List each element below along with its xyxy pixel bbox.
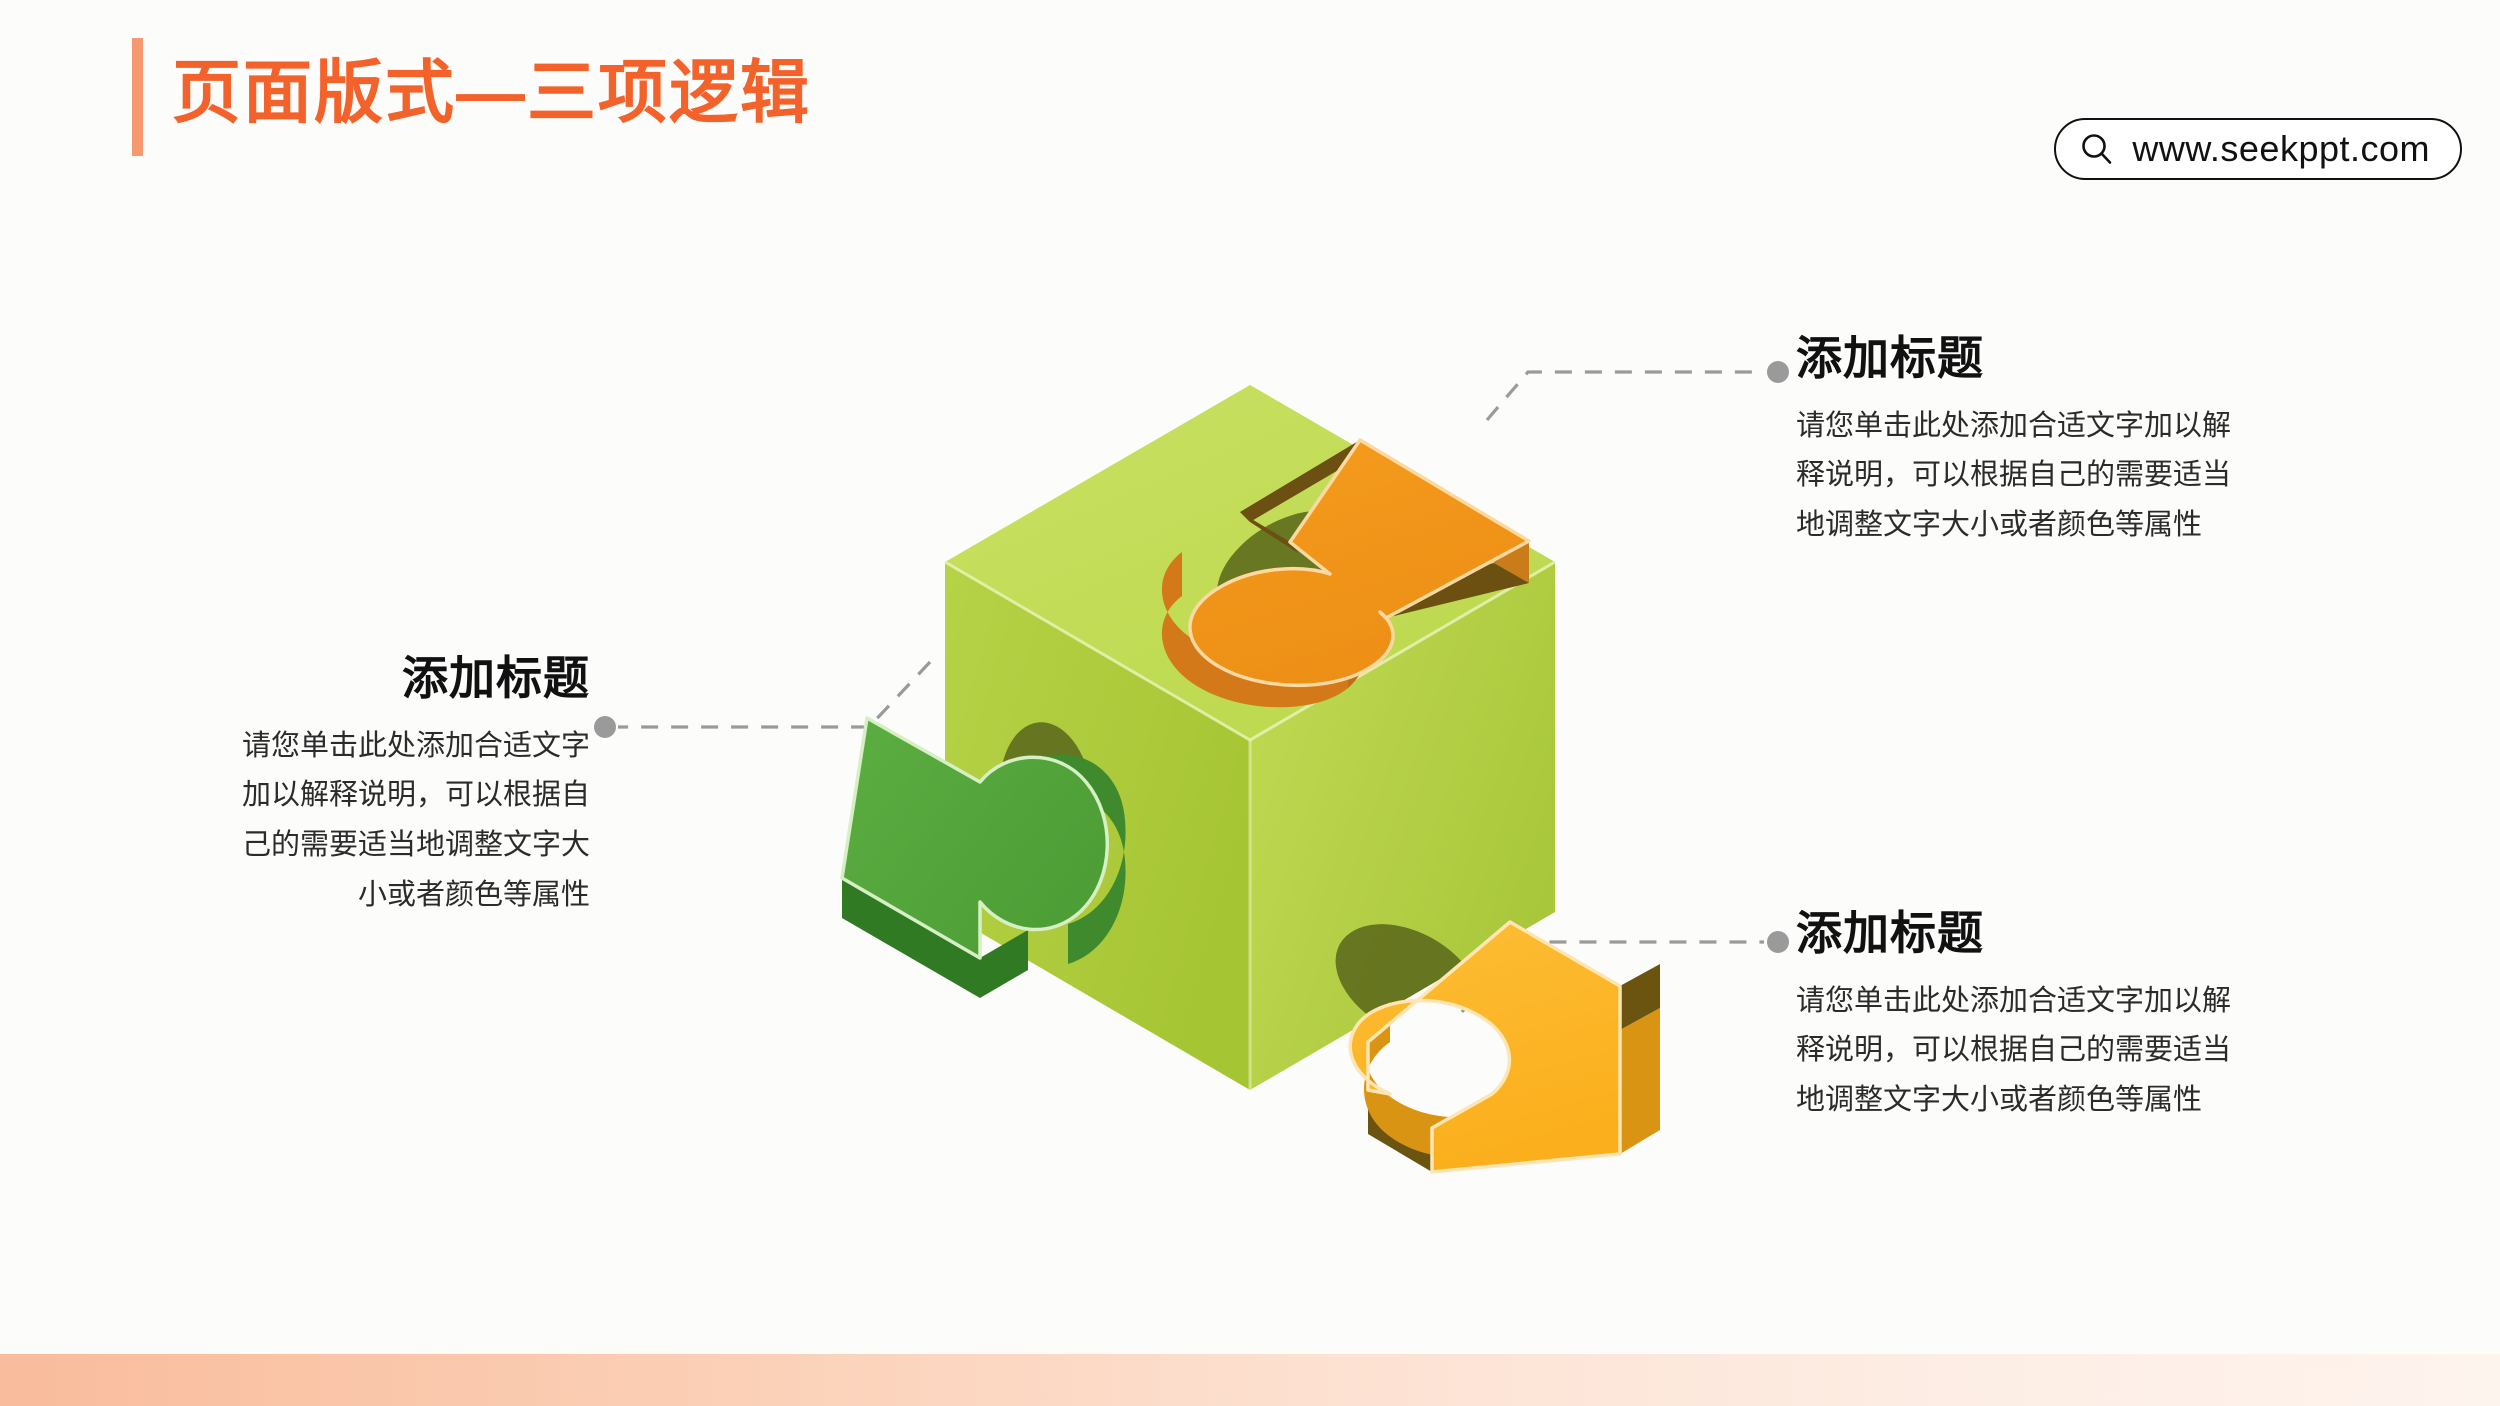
bottom-gradient-band (0, 1354, 2500, 1406)
callout-title: 添加标题 (1796, 905, 2376, 963)
callout-title: 添加标题 (100, 650, 590, 708)
callout-title: 添加标题 (1796, 330, 2376, 388)
callout-body-line: 小或者颜色等属性 (100, 871, 590, 921)
callout-body: 请您单击此处添加合适文字加以解 释说明，可以根据自己的需要适当 地调整文字大小或… (1796, 977, 2376, 1127)
slide-header: 页面版式—三项逻辑 www.seekppt.com (0, 0, 2500, 210)
callout-body-line: 释说明，可以根据自己的需要适当 (1796, 451, 2376, 501)
callout-left: 添加标题 请您单击此处添加合适文字 加以解释说明，可以根据自 己的需要适当地调整… (100, 650, 590, 921)
callout-body-line: 地调整文字大小或者颜色等属性 (1796, 501, 2376, 551)
callout-right-bottom: 添加标题 请您单击此处添加合适文字加以解 释说明，可以根据自己的需要适当 地调整… (1796, 905, 2376, 1126)
callout-body: 请您单击此处添加合适文字加以解 释说明，可以根据自己的需要适当 地调整文字大小或… (1796, 402, 2376, 552)
callout-body-line: 请您单击此处添加合适文字 (100, 722, 590, 772)
callout-body: 请您单击此处添加合适文字 加以解释说明，可以根据自 己的需要适当地调整文字大 小… (100, 722, 590, 922)
callout-body-line: 地调整文字大小或者颜色等属性 (1796, 1076, 2376, 1126)
callout-body-line: 释说明，可以根据自己的需要适当 (1796, 1026, 2376, 1076)
callout-body-line: 请您单击此处添加合适文字加以解 (1796, 977, 2376, 1027)
callout-body-line: 己的需要适当地调整文字大 (100, 821, 590, 871)
url-search-pill[interactable]: www.seekppt.com (2054, 118, 2462, 180)
url-text: www.seekppt.com (2132, 128, 2430, 170)
title-accent-bar (132, 38, 143, 156)
connector-dot-top-right (1767, 361, 1789, 383)
page-title: 页面版式—三项逻辑 (172, 58, 811, 127)
puzzle-cube-graphic (820, 330, 1680, 1190)
callout-right-top: 添加标题 请您单击此处添加合适文字加以解 释说明，可以根据自己的需要适当 地调整… (1796, 330, 2376, 551)
callout-body-line: 加以解释说明，可以根据自 (100, 771, 590, 821)
connector-dot-bottom-right (1767, 931, 1789, 953)
connector-dot-left (594, 716, 616, 738)
search-icon (2080, 132, 2114, 166)
callout-body-line: 请您单击此处添加合适文字加以解 (1796, 402, 2376, 452)
